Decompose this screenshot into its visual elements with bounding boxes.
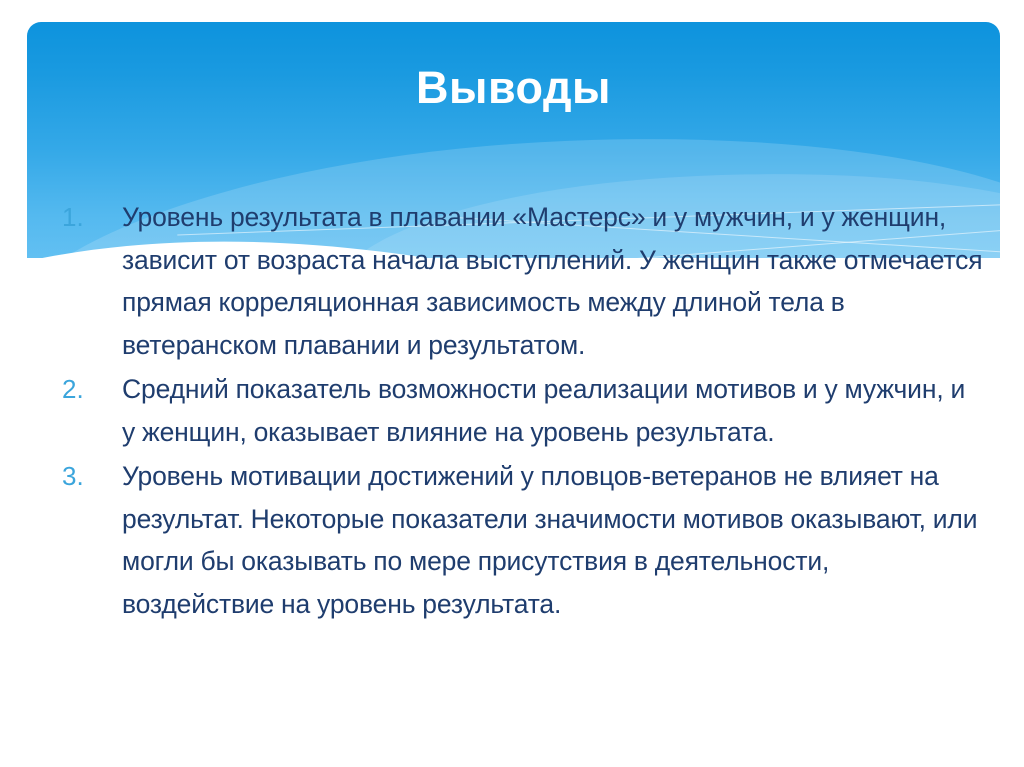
list-item-text: Средний показатель возможности реализаци… xyxy=(122,368,985,453)
slide-title: Выводы xyxy=(27,64,1000,111)
conclusions-list: 1. Уровень результата в плавании «Мастер… xyxy=(55,196,985,627)
list-item: 3. Уровень мотивации достижений у пловцо… xyxy=(55,455,985,625)
list-item-number: 1. xyxy=(55,196,122,239)
list-item: 2. Средний показатель возможности реализ… xyxy=(55,368,985,453)
list-item-text: Уровень результата в плавании «Мастерс» … xyxy=(122,196,985,366)
list-item-number: 2. xyxy=(55,368,122,411)
list-item-number: 3. xyxy=(55,455,122,498)
list-item: 1. Уровень результата в плавании «Мастер… xyxy=(55,196,985,366)
presentation-slide: Выводы 1. Уровень результата в плавании … xyxy=(0,0,1024,767)
list-item-text: Уровень мотивации достижений у пловцов-в… xyxy=(122,455,985,625)
